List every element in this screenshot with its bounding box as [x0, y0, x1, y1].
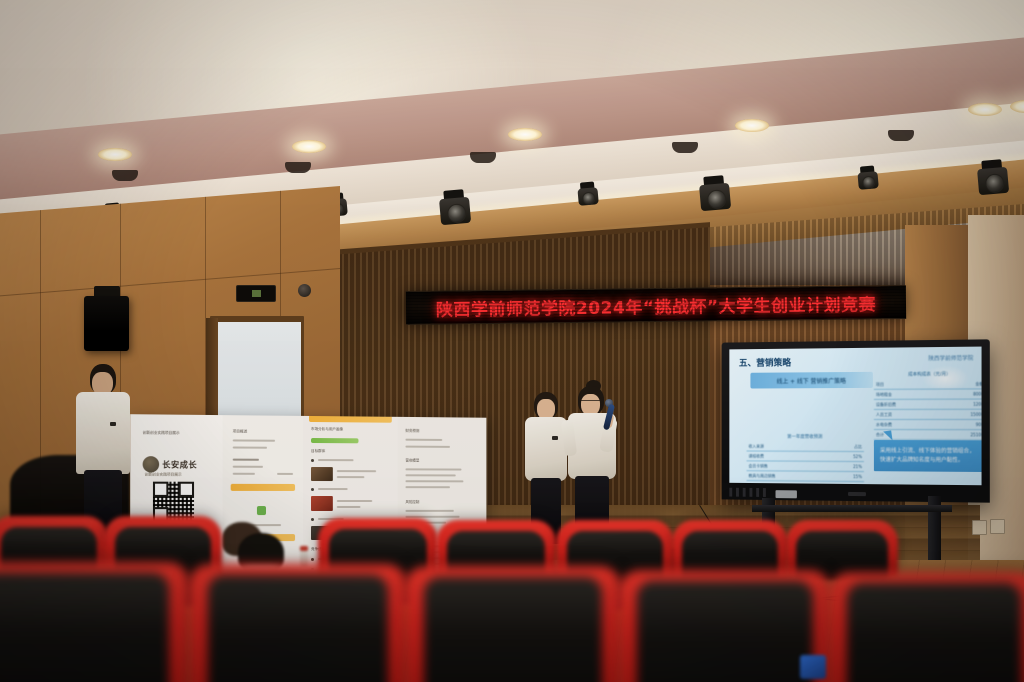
auditorium-seat[interactable]: [828, 572, 1024, 682]
logo-mark-icon: [143, 456, 160, 472]
auditorium-seating: [0, 482, 1024, 682]
slide-table-left-caption: 第一年度营收预测: [747, 434, 864, 440]
auditorium-photo: 陕西学前师范学院2024年“挑战杯”大学生创业计划竞赛 五、营销策略 陕西学前师…: [0, 0, 1024, 682]
auditorium-seat[interactable]: [188, 564, 408, 682]
poster-thumbnail: [311, 467, 333, 481]
display-screen: 五、营销策略 陕西学前师范学院 线上 + 线下 营销推广策略 成本构成表（元/月…: [729, 347, 981, 486]
table-row: 水电杂费900: [874, 419, 982, 429]
event-led-banner: 陕西学前师范学院2024年“挑战杯”大学生创业计划竞赛: [406, 285, 906, 325]
slide-title: 五、营销策略: [739, 356, 791, 369]
table-row: 设备折旧费1200: [874, 399, 982, 409]
glasses-icon: [581, 400, 600, 405]
presentation-slide: 五、营销策略 陕西学前师范学院 线上 + 线下 营销推广策略 成本构成表（元/月…: [729, 347, 981, 486]
callout-line-2: 快速扩大品牌知名度与用户黏性。: [880, 456, 982, 465]
presentation-display[interactable]: 五、营销策略 陕西学前师范学院 线上 + 线下 营销推广策略 成本构成表（元/月…: [722, 339, 990, 502]
slide-table-left: 第一年度营收预测 收入来源占比 课程收费52% 会员卡销售21% 教具与周边销售…: [747, 434, 864, 485]
table-row: 场地租金8000: [874, 389, 982, 400]
slide-school-mark: 陕西学前师范学院: [928, 354, 973, 363]
auditorium-seat[interactable]: [404, 566, 622, 682]
smartphone[interactable]: [800, 655, 826, 679]
name-badge: [552, 436, 558, 440]
table-row: 收入来源占比: [747, 442, 864, 452]
shirt-badge: [110, 422, 116, 426]
auditorium-seat[interactable]: [0, 562, 190, 682]
wall-round-fixture-icon: [298, 284, 311, 297]
table-row: 项目金额: [874, 379, 982, 389]
logo-text: 长安成长: [162, 459, 197, 470]
slide-header-text: 线上 + 线下 营销推广策略: [777, 376, 846, 385]
event-banner-text: 陕西学前师范学院2024年“挑战杯”大学生创业计划竞赛: [436, 290, 876, 320]
slide-table-right-caption: 成本构成表（元/月）: [874, 371, 982, 378]
logo-subtitle: 创新创业实践项目展示: [145, 472, 182, 477]
wall-speaker-icon: [84, 296, 129, 351]
poster-heading: 创新创业实践项目展示: [143, 431, 180, 436]
slide-callout-box: 采用线上引流、线下体验的营销组合， 快速扩大品牌知名度与用户黏性。: [874, 440, 982, 472]
torso-shirt: [76, 392, 130, 474]
table-row: 人员工资15000: [874, 409, 982, 419]
slide-header-bar: 线上 + 线下 营销推广策略: [750, 372, 872, 389]
exit-sign-box: [236, 285, 276, 302]
